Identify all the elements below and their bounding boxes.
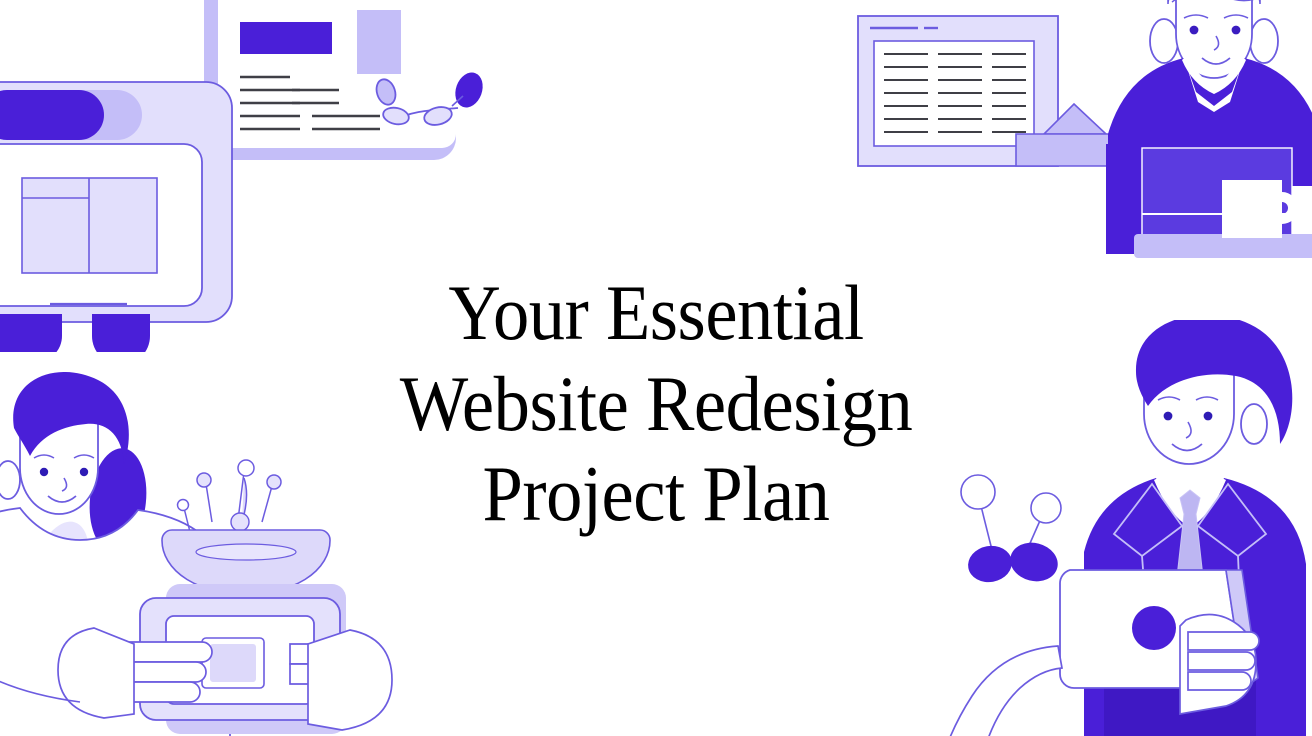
rounded-feet [0,314,150,352]
person-holding-frame-illustration [0,372,490,736]
laptop-logo [1132,606,1176,650]
purple-header-block [240,22,332,54]
text-lines [240,77,380,129]
person-head [1150,0,1278,78]
person-head [0,372,129,514]
monitor-text-grid [884,54,1026,132]
coffee-mug [1222,180,1298,238]
page-title-line-2: Website Redesign [46,359,1266,449]
page-title-line-3: Project Plan [46,449,1266,539]
vine-decoration [373,69,487,128]
page-title-line-1: Your Essential [46,268,1266,358]
device-mockups-illustration [0,0,502,352]
necktie [1176,490,1204,604]
bowl-with-pins [162,460,330,592]
person-head [1136,320,1292,464]
leaf-plant [12,445,234,732]
slide-canvas: Your Essential Website Redesign Project … [0,0,1312,736]
nested-frame-device [0,584,392,734]
document-card [204,0,456,160]
person-body [0,508,230,736]
keyboard [1016,104,1136,166]
laptop [940,570,1258,736]
suit-jacket [1084,474,1306,736]
desk [1106,144,1312,258]
person-hands [58,628,392,730]
plant [961,475,1062,586]
page-title: Your Essential Website Redesign Project … [46,268,1266,539]
image-placeholder [357,10,401,74]
tablet-frame [0,82,232,338]
monitor [858,16,1058,166]
layout-wireframe [22,178,157,273]
person-at-desk-illustration [846,0,1312,286]
person-shirt [1108,54,1312,186]
businessman-with-laptop-illustration [856,320,1312,736]
suit-button [1184,596,1200,612]
person-hand [1180,614,1259,714]
